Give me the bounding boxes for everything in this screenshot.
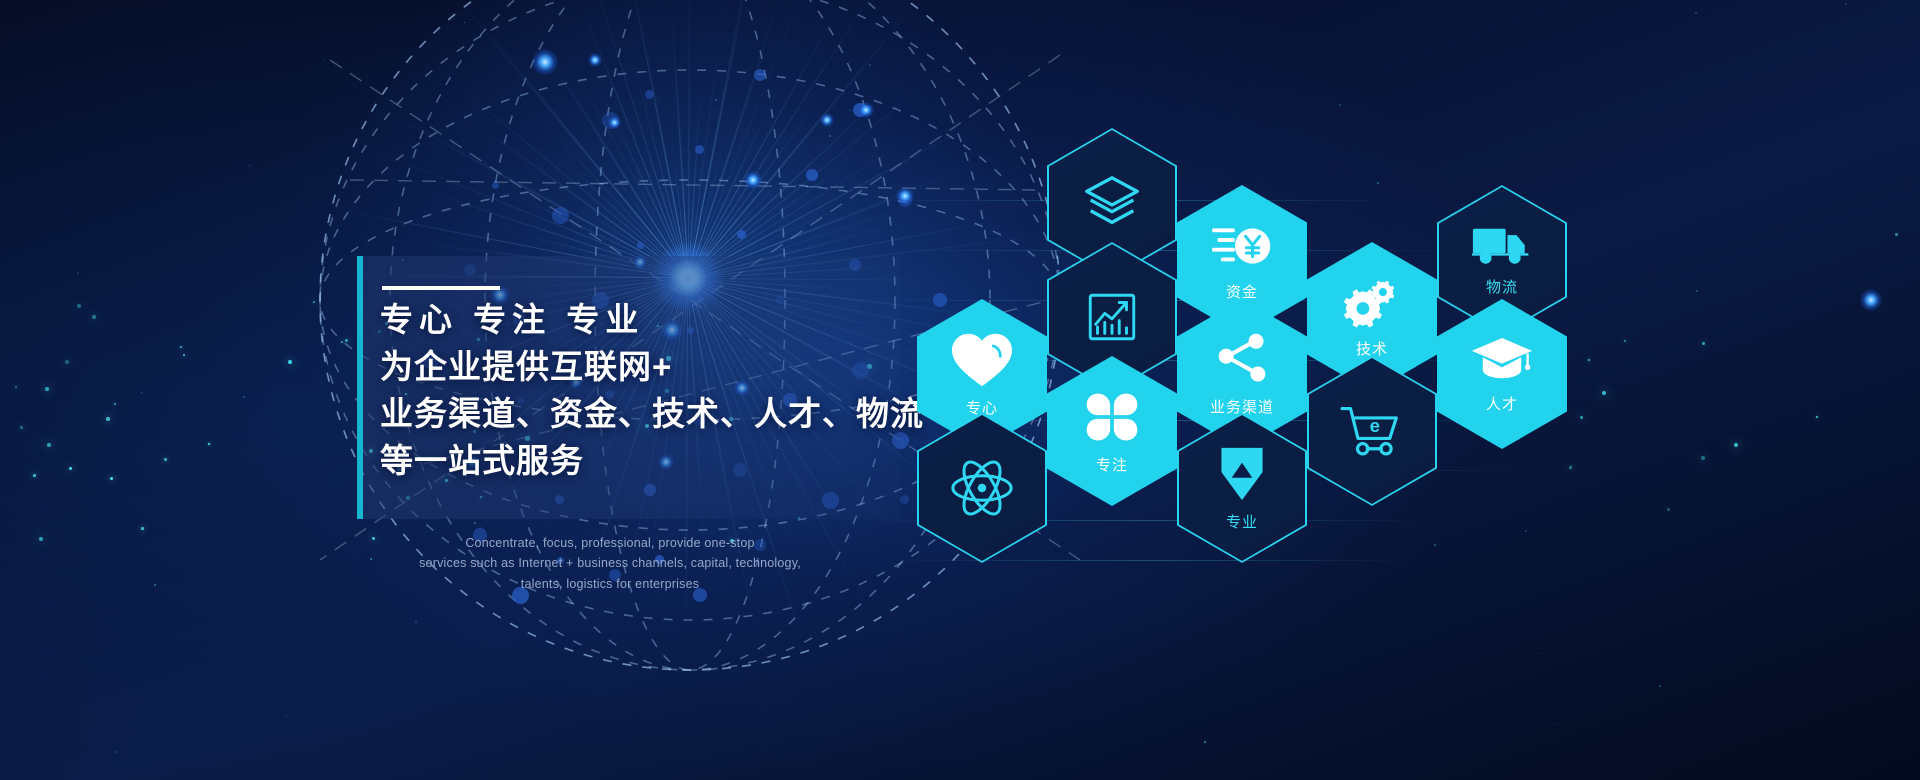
hexagon-focus[interactable]: 专注 — [1047, 356, 1177, 506]
atom-icon — [949, 457, 1015, 519]
layers-icon — [1081, 172, 1143, 234]
hexagon-label: 技术 — [1356, 338, 1388, 359]
e-cart-icon: e — [1339, 403, 1405, 459]
share-nodes-icon — [1213, 331, 1271, 389]
hexagon-label: 人才 — [1486, 393, 1518, 414]
hexagon-label: 物流 — [1486, 276, 1518, 297]
truck-icon — [1472, 223, 1532, 269]
heart-icon — [949, 330, 1015, 390]
graduation-cap-icon — [1470, 334, 1534, 386]
hexagon-ecart[interactable]: e — [1307, 356, 1437, 506]
hexagon-talent[interactable]: 人才 — [1437, 299, 1567, 449]
hexagon-grid: 资金技术物流专心业务渠道人才专注e专业 — [0, 0, 1920, 780]
hexagon-pro[interactable]: 专业 — [1177, 413, 1307, 563]
gears-icon — [1343, 275, 1401, 331]
svg-text:e: e — [1370, 415, 1380, 436]
hexagon-label: 专业 — [1226, 511, 1258, 532]
chart-growth-icon — [1083, 288, 1141, 346]
hexagon-atom[interactable] — [917, 413, 1047, 563]
diamond-icon — [1214, 444, 1270, 504]
yuan-coin-icon — [1212, 218, 1272, 274]
hexagon-label: 资金 — [1226, 281, 1258, 302]
clover-icon — [1082, 387, 1142, 447]
hexagon-label: 专注 — [1096, 454, 1128, 475]
hero-banner: 专心 专注 专业 为企业提供互联网+ 业务渠道、资金、技术、人才、物流 等一站式… — [0, 0, 1920, 780]
